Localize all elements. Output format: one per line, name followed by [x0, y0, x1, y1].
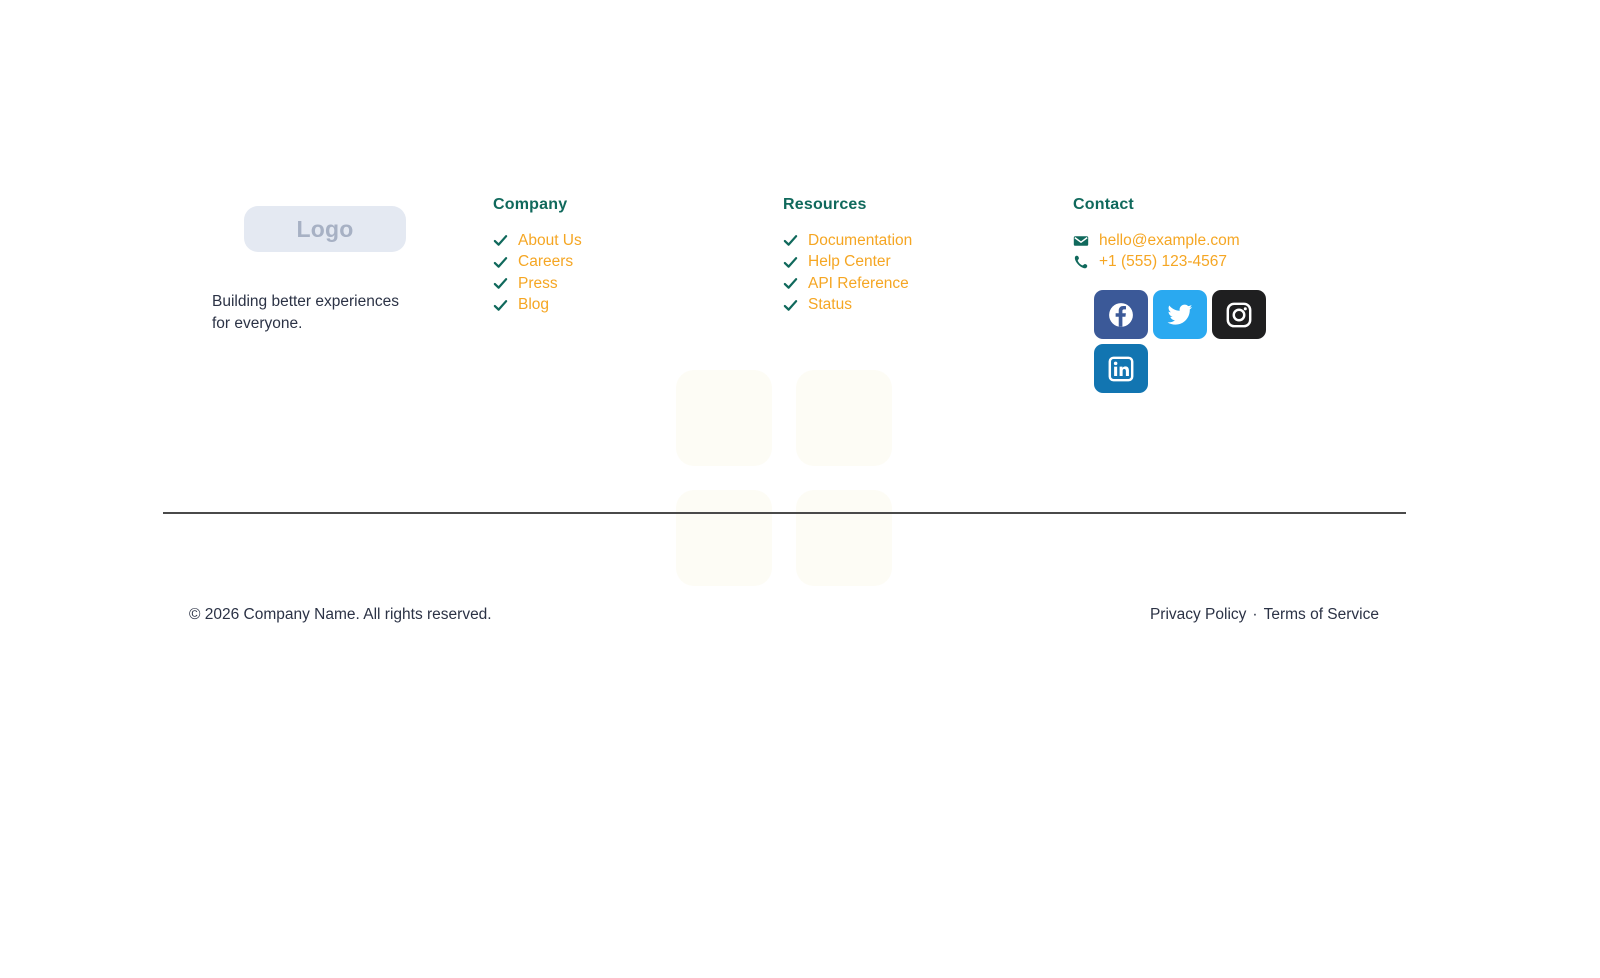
legal-links: Privacy Policy · Terms of Service — [1150, 606, 1379, 624]
instagram-icon — [1225, 301, 1253, 329]
contact-column: Contact hello@example.com +1 (555) 123-4… — [1073, 196, 1406, 393]
link-item-blog[interactable]: Blog — [493, 295, 783, 317]
brand-column: Logo Building better experiences for eve… — [163, 196, 493, 335]
company-link-list: About Us Careers Press — [493, 230, 783, 316]
brand-tagline: Building better experiences for everyone… — [212, 291, 412, 335]
legal-separator: · — [1252, 606, 1257, 624]
decorative-tile — [796, 490, 892, 586]
link-label: Help Center — [808, 253, 891, 271]
social-link-linkedin[interactable] — [1094, 344, 1148, 393]
link-item-about-us[interactable]: About Us — [493, 230, 783, 252]
twitter-icon — [1166, 301, 1194, 329]
contact-email[interactable]: hello@example.com — [1073, 230, 1406, 252]
logo-placeholder[interactable]: Logo — [244, 206, 406, 252]
link-item-careers[interactable]: Careers — [493, 252, 783, 274]
footer-columns: Logo Building better experiences for eve… — [163, 196, 1406, 393]
link-item-help-center[interactable]: Help Center — [783, 252, 1073, 274]
linkedin-icon — [1107, 355, 1135, 383]
social-link-instagram[interactable] — [1212, 290, 1266, 339]
link-label: About Us — [518, 232, 582, 250]
check-icon — [493, 298, 508, 313]
company-column: Company About Us Careers — [493, 196, 783, 316]
resources-column: Resources Documentation Help Center — [783, 196, 1073, 316]
column-title-contact: Contact — [1073, 196, 1406, 214]
link-item-status[interactable]: Status — [783, 295, 1073, 317]
column-title-company: Company — [493, 196, 783, 214]
terms-of-service-link[interactable]: Terms of Service — [1264, 606, 1379, 624]
check-icon — [783, 255, 798, 270]
check-icon — [783, 276, 798, 291]
phone-icon — [1073, 254, 1089, 270]
link-label: Documentation — [808, 232, 912, 250]
check-icon — [783, 233, 798, 248]
column-title-resources: Resources — [783, 196, 1073, 214]
link-item-documentation[interactable]: Documentation — [783, 230, 1073, 252]
social-link-facebook[interactable] — [1094, 290, 1148, 339]
copyright-text: © 2026 Company Name. All rights reserved… — [189, 606, 492, 624]
check-icon — [493, 233, 508, 248]
footer-page: Logo Building better experiences for eve… — [0, 0, 1600, 978]
check-icon — [493, 276, 508, 291]
link-label: Press — [518, 275, 558, 293]
link-item-press[interactable]: Press — [493, 273, 783, 295]
contact-phone-text: +1 (555) 123-4567 — [1099, 253, 1227, 271]
check-icon — [783, 298, 798, 313]
social-links — [1094, 290, 1294, 393]
envelope-icon — [1073, 233, 1089, 249]
resources-link-list: Documentation Help Center API Reference — [783, 230, 1073, 316]
check-icon — [493, 255, 508, 270]
facebook-icon — [1107, 301, 1135, 329]
contact-phone[interactable]: +1 (555) 123-4567 — [1073, 252, 1406, 274]
privacy-policy-link[interactable]: Privacy Policy — [1150, 606, 1246, 624]
contact-email-text: hello@example.com — [1099, 232, 1240, 250]
footer-bottom-bar: © 2026 Company Name. All rights reserved… — [163, 606, 1406, 624]
decorative-tile-grid — [676, 370, 892, 582]
social-link-twitter[interactable] — [1153, 290, 1207, 339]
link-label: Blog — [518, 296, 549, 314]
link-label: Careers — [518, 253, 573, 271]
footer-divider — [163, 512, 1406, 514]
link-label: Status — [808, 296, 852, 314]
link-label: API Reference — [808, 275, 909, 293]
link-item-api-reference[interactable]: API Reference — [783, 273, 1073, 295]
decorative-tile — [676, 490, 772, 586]
logo-text: Logo — [297, 216, 354, 243]
